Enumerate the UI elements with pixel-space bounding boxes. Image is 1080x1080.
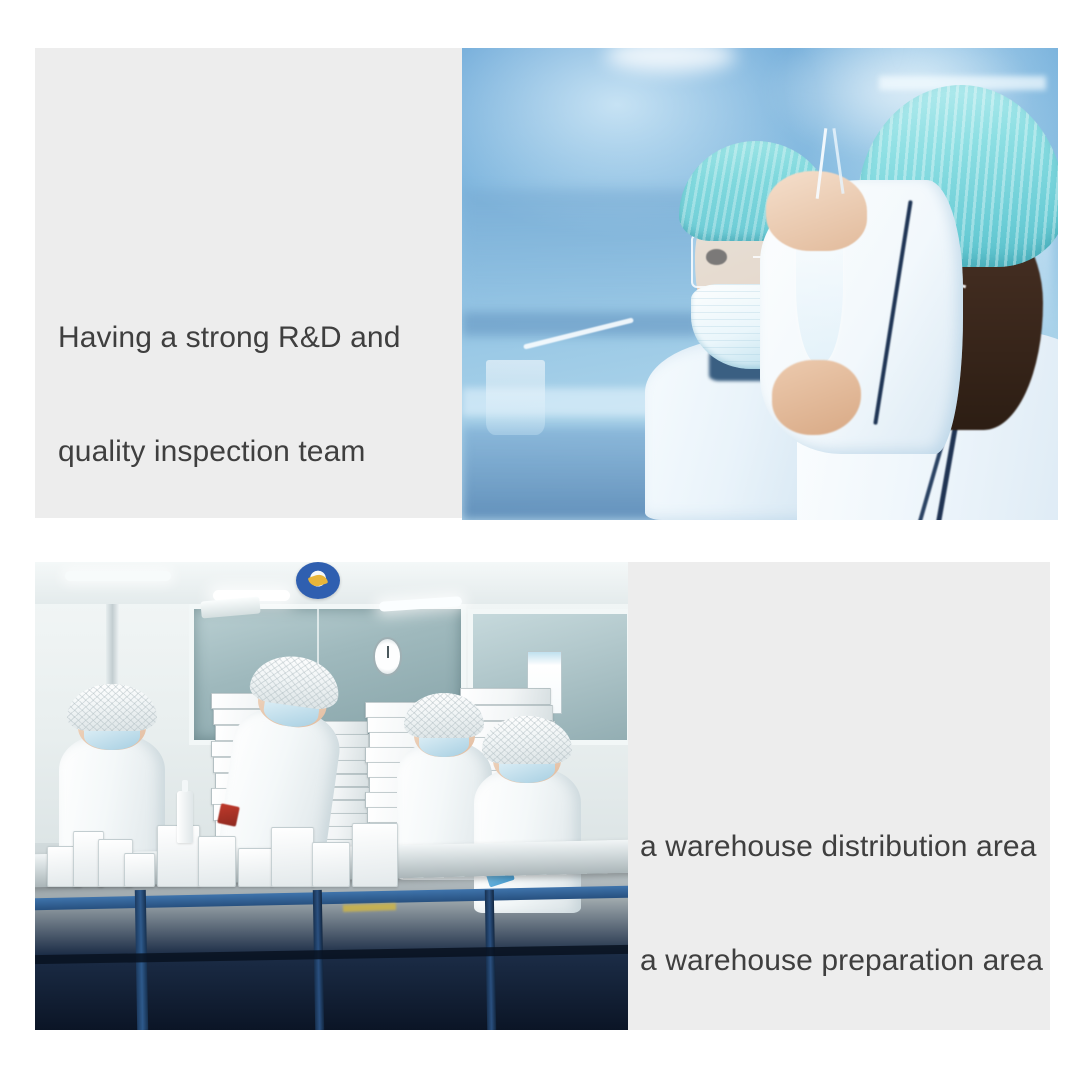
table-leg-b bbox=[312, 890, 324, 1030]
white-bottle bbox=[177, 791, 192, 842]
floor-marking-yellow bbox=[343, 903, 397, 912]
wall-clock-icon bbox=[373, 637, 402, 676]
rd-quality-caption: Having a strong R&D and quality inspecti… bbox=[58, 243, 458, 547]
worker-1-hairnet-icon bbox=[67, 684, 157, 731]
table-leg-c bbox=[484, 890, 496, 1030]
lab-inspection-photo bbox=[462, 48, 1058, 520]
ceiling-light-c bbox=[65, 571, 172, 580]
page-root: Having a strong R&D and quality inspecti… bbox=[0, 0, 1080, 1080]
warehouse-caption-line2: a warehouse preparation area bbox=[640, 942, 1050, 980]
lab-counter-body bbox=[462, 426, 665, 520]
warehouse-caption: a warehouse distribution area a warehous… bbox=[640, 752, 1050, 1056]
warehouse-packing-photo bbox=[35, 562, 628, 1030]
rd-quality-caption-line1: Having a strong R&D and bbox=[58, 319, 458, 357]
rd-quality-caption-line2: quality inspection team bbox=[58, 433, 458, 471]
worker-3-hairnet-icon bbox=[404, 693, 484, 738]
lab-beaker bbox=[486, 360, 546, 436]
warehouse-caption-line1: a warehouse distribution area bbox=[640, 828, 1050, 866]
worker-4-hairnet-icon bbox=[482, 716, 572, 763]
